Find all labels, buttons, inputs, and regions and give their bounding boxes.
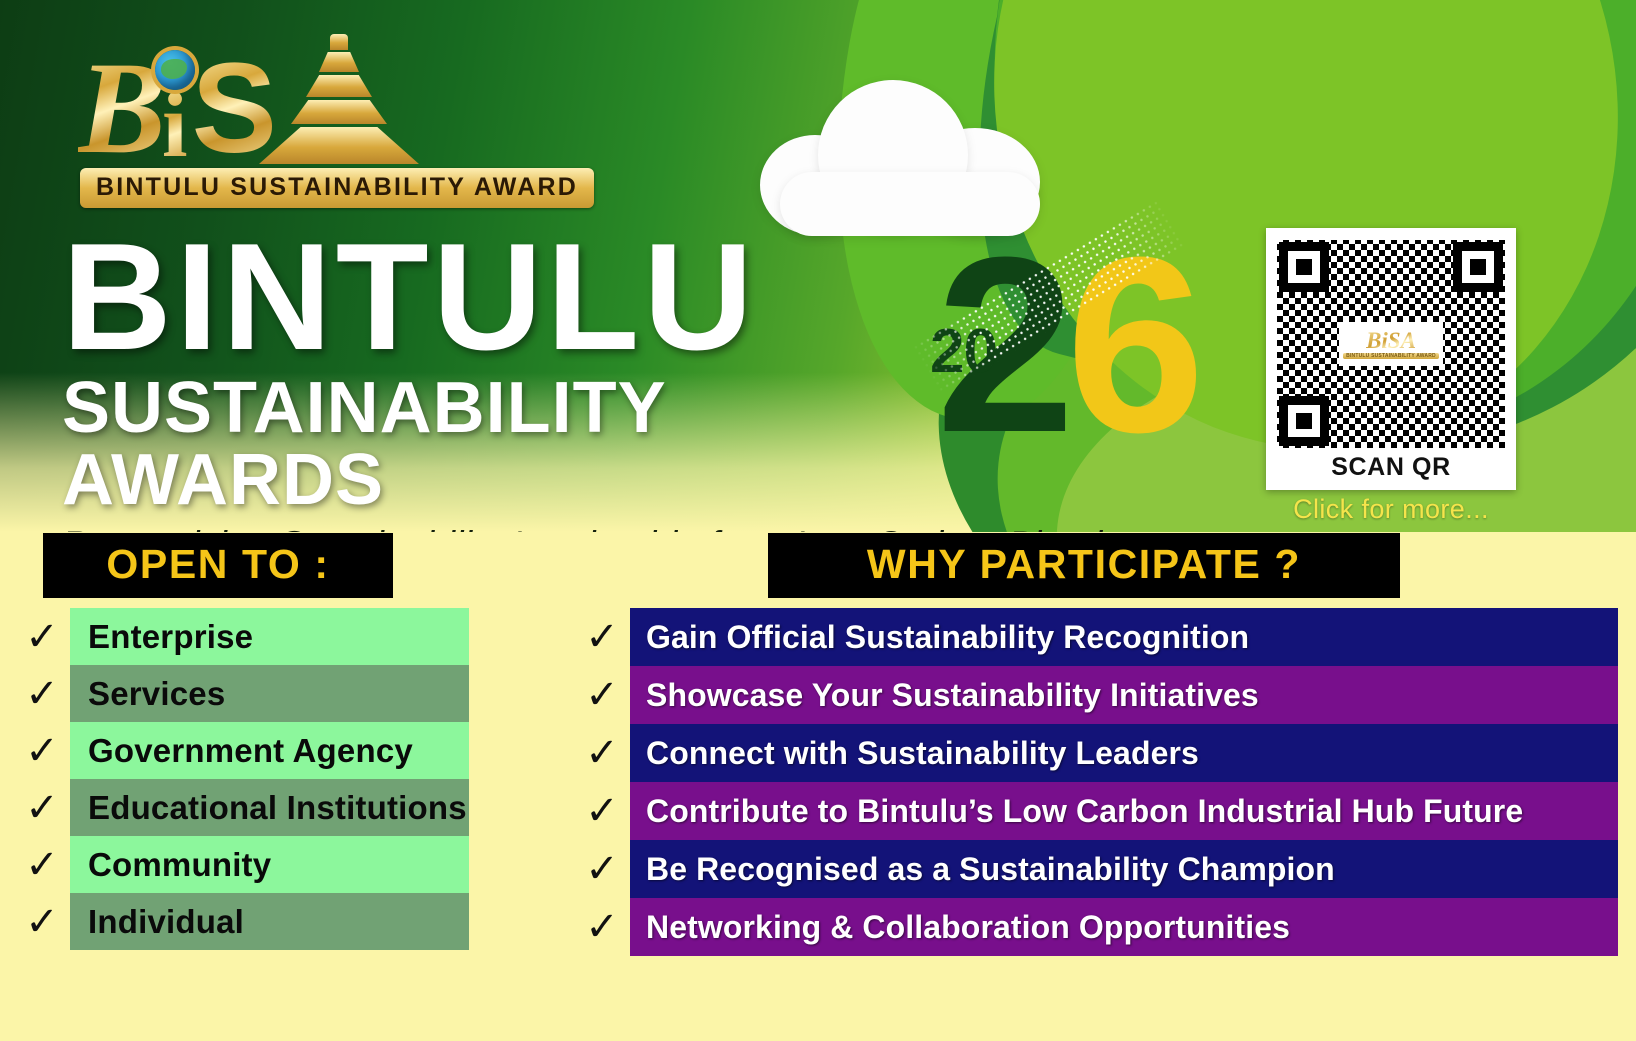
list-item-label: Gain Official Sustainability Recognition xyxy=(630,608,1618,666)
check-icon: ✓ xyxy=(14,674,70,714)
list-item-label: Educational Institutions xyxy=(70,779,469,836)
qr-finder-bottom-left xyxy=(1279,396,1329,446)
list-item-label: Enterprise xyxy=(70,608,469,665)
check-icon: ✓ xyxy=(14,902,70,942)
check-icon: ✓ xyxy=(574,675,630,715)
list-item-label: Services xyxy=(70,665,469,722)
qr-click-link[interactable]: Click for more... xyxy=(1266,494,1516,525)
check-icon: ✓ xyxy=(574,733,630,773)
bisa-logo: B i S BINTULU SUSTAINABILITY AWARD xyxy=(72,24,692,214)
list-item-label: Be Recognised as a Sustainability Champi… xyxy=(630,840,1618,898)
check-icon: ✓ xyxy=(574,849,630,889)
section-header-open-to: OPEN TO : xyxy=(43,533,393,598)
check-icon: ✓ xyxy=(14,788,70,828)
list-item[interactable]: ✓ Enterprise xyxy=(14,608,469,665)
bisa-logo-mark: B i S xyxy=(72,24,692,164)
list-item-label: Individual xyxy=(70,893,469,950)
list-item-label: Government Agency xyxy=(70,722,469,779)
list-item[interactable]: ✓ Government Agency xyxy=(14,722,469,779)
qr-card[interactable]: BiSA BINTULU SUSTAINABILITY AWARD SCAN Q… xyxy=(1266,228,1516,490)
qr-finder-top-right xyxy=(1453,242,1503,292)
logo-letter-b: B xyxy=(78,52,166,164)
qr-code-image[interactable]: BiSA BINTULU SUSTAINABILITY AWARD xyxy=(1277,240,1505,448)
list-item[interactable]: ✓ Community xyxy=(14,836,469,893)
list-item[interactable]: ✓ Connect with Sustainability Leaders xyxy=(568,724,1618,782)
poster-root: B i S BINTULU SUSTAINABILITY AWARD BINTU… xyxy=(0,0,1636,1041)
logo-letter-i: i xyxy=(162,86,188,164)
list-item[interactable]: ✓ Networking & Collaboration Opportuniti… xyxy=(568,898,1618,956)
list-item[interactable]: ✓ Individual xyxy=(14,893,469,950)
page-subtitle: SUSTAINABILITY AWARDS xyxy=(62,372,1002,516)
qr-finder-top-left xyxy=(1279,242,1329,292)
list-item[interactable]: ✓ Educational Institutions xyxy=(14,779,469,836)
tagline: Recognising Sustainability Leadership fo… xyxy=(62,524,1002,532)
globe-icon xyxy=(155,50,195,90)
check-icon: ✓ xyxy=(14,731,70,771)
check-icon: ✓ xyxy=(14,845,70,885)
list-item[interactable]: ✓ Contribute to Bintulu’s Low Carbon Ind… xyxy=(568,782,1618,840)
list-item[interactable]: ✓ Be Recognised as a Sustainability Cham… xyxy=(568,840,1618,898)
page-title: BINTULU xyxy=(62,228,1002,368)
list-item-label: Showcase Your Sustainability Initiatives xyxy=(630,666,1618,724)
open-to-list: ✓ Enterprise ✓ Services ✓ Government Age… xyxy=(14,608,469,950)
section-header-why-participate: WHY PARTICIPATE ? xyxy=(768,533,1400,598)
check-icon: ✓ xyxy=(574,617,630,657)
headline-block: BINTULU SUSTAINABILITY AWARDS Recognisin… xyxy=(62,228,1002,532)
qr-logo-mark: BiSA xyxy=(1366,329,1416,352)
list-item[interactable]: ✓ Showcase Your Sustainability Initiativ… xyxy=(568,666,1618,724)
banner-header: B i S BINTULU SUSTAINABILITY AWARD BINTU… xyxy=(0,0,1636,532)
list-item-label: Networking & Collaboration Opportunities xyxy=(630,898,1618,956)
list-item[interactable]: ✓ Services xyxy=(14,665,469,722)
qr-block[interactable]: BiSA BINTULU SUSTAINABILITY AWARD SCAN Q… xyxy=(1266,228,1516,525)
year-graphic: 6 2 20 xyxy=(916,238,1216,498)
qr-embedded-logo: BiSA BINTULU SUSTAINABILITY AWARD xyxy=(1339,322,1443,366)
list-item[interactable]: ✓ Gain Official Sustainability Recogniti… xyxy=(568,608,1618,666)
check-icon: ✓ xyxy=(14,617,70,657)
check-icon: ✓ xyxy=(574,907,630,947)
logo-letter-a-pagoda-icon xyxy=(259,32,419,164)
check-icon: ✓ xyxy=(574,791,630,831)
list-item-label: Contribute to Bintulu’s Low Carbon Indus… xyxy=(630,782,1618,840)
list-item-label: Community xyxy=(70,836,469,893)
qr-logo-subtitle: BINTULU SUSTAINABILITY AWARD xyxy=(1343,353,1439,359)
qr-caption: SCAN QR xyxy=(1276,448,1506,486)
why-participate-list: ✓ Gain Official Sustainability Recogniti… xyxy=(568,608,1618,956)
list-item-label: Connect with Sustainability Leaders xyxy=(630,724,1618,782)
